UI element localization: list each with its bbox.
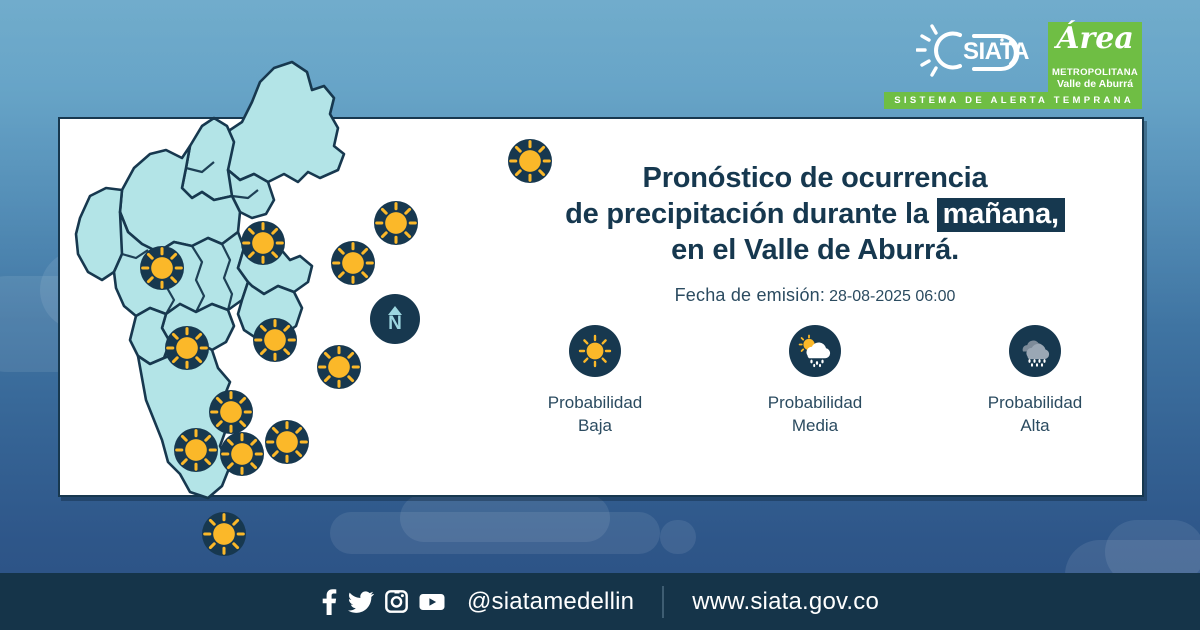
weather-marker-low[interactable] (220, 432, 264, 476)
sun-cloud-logo-icon: SIATA (916, 22, 1042, 84)
social-handle: @siatamedellin (467, 588, 634, 616)
logo-group: SIATA Área METROPOLITANA Valle de Aburrá (916, 22, 1142, 94)
forecast-text-panel: Pronóstico de ocurrencia de precipitació… (500, 160, 1130, 306)
weather-marker-low[interactable] (265, 420, 309, 464)
sun-cloud-rain-icon (796, 334, 834, 368)
siata-tagline: SISTEMA DE ALERTA TEMPRANA (884, 92, 1142, 109)
sun-icon (317, 345, 361, 389)
title-line-1: Pronóstico de ocurrencia (500, 160, 1130, 196)
weather-marker-low[interactable] (140, 246, 184, 290)
sun-icon (578, 334, 612, 368)
map-region (130, 308, 170, 364)
legend-label-line1: Probabilidad (548, 391, 643, 414)
title-line-2: de precipitación durante la mañana, (500, 196, 1130, 232)
footer-bar: @siatamedellin www.siata.gov.co (0, 573, 1200, 630)
sun-icon (253, 318, 297, 362)
legend-item-alta: Probabilidad Alta (940, 325, 1130, 437)
website-url: www.siata.gov.co (692, 588, 879, 616)
map-svg (62, 42, 422, 570)
page-title: Pronóstico de ocurrencia de precipitació… (500, 160, 1130, 268)
compass-north-icon: N (370, 294, 420, 344)
legend-label-baja: Probabilidad Baja (548, 391, 643, 437)
infographic-root: SIATA Área METROPOLITANA Valle de Aburrá… (0, 0, 1200, 630)
legend-icon-wrap (1009, 325, 1061, 377)
weather-marker-low[interactable] (174, 428, 218, 472)
footer-content: @siatamedellin www.siata.gov.co (321, 586, 879, 618)
legend-label-line2: Alta (988, 414, 1083, 437)
legend-item-media: Probabilidad Media (720, 325, 910, 437)
weather-marker-low[interactable] (241, 221, 285, 265)
social-links (321, 589, 445, 615)
sun-icon (331, 241, 375, 285)
area-script-text: Área (1048, 24, 1142, 54)
title-line-2-text: de precipitación durante la (565, 198, 929, 230)
sun-icon (374, 201, 418, 245)
compass-label: N (388, 316, 402, 332)
weather-marker-low[interactable] (253, 318, 297, 362)
twitter-icon (348, 591, 374, 613)
emission-value: 28-08-2025 06:00 (829, 288, 955, 305)
title-highlight: mañana, (937, 198, 1065, 232)
sun-icon (220, 432, 264, 476)
sun-icon (241, 221, 285, 265)
weather-marker-low[interactable] (331, 241, 375, 285)
legend-label-line1: Probabilidad (768, 391, 863, 414)
legend-item-baja: Probabilidad Baja (500, 325, 690, 437)
background-cloud-icon (400, 494, 610, 542)
facebook-icon (321, 589, 337, 615)
twitter-link[interactable] (348, 591, 374, 613)
instagram-icon (385, 590, 408, 613)
instagram-link[interactable] (385, 590, 408, 613)
weather-marker-low[interactable] (374, 201, 418, 245)
title-line-3: en el Valle de Aburrá. (500, 232, 1130, 268)
area-metropolitana-logo: Área METROPOLITANA Valle de Aburrá (1048, 22, 1142, 94)
siata-logo: SIATA (916, 22, 1042, 84)
sun-icon (174, 428, 218, 472)
legend-label-media: Probabilidad Media (768, 391, 863, 437)
rain-cloud-icon (1016, 334, 1054, 368)
legend-label-line2: Baja (548, 414, 643, 437)
legend-label-alta: Probabilidad Alta (988, 391, 1083, 437)
legend-icon-wrap (789, 325, 841, 377)
area-line2: Valle de Aburrá (1057, 78, 1133, 90)
youtube-link[interactable] (419, 592, 445, 612)
svg-text:SIATA: SIATA (963, 38, 1029, 65)
legend-icon-wrap (569, 325, 621, 377)
emission-date: Fecha de emisión:28-08-2025 06:00 (500, 285, 1130, 306)
weather-marker-low[interactable] (202, 512, 246, 556)
facebook-link[interactable] (321, 589, 337, 615)
youtube-icon (419, 592, 445, 612)
sun-icon (165, 326, 209, 370)
legend-label-line2: Media (768, 414, 863, 437)
area-line1: METROPOLITANA (1052, 67, 1138, 78)
weather-marker-low[interactable] (165, 326, 209, 370)
sun-icon (265, 420, 309, 464)
weather-marker-low[interactable] (317, 345, 361, 389)
footer-divider (662, 586, 664, 618)
valle-de-aburra-map: N (62, 42, 422, 570)
map-region (219, 62, 344, 182)
probability-legend: Probabilidad Baja (500, 325, 1130, 437)
sun-icon (202, 512, 246, 556)
sun-icon (140, 246, 184, 290)
emission-label: Fecha de emisión: (675, 285, 825, 305)
background-cloud-icon (660, 520, 696, 554)
legend-label-line1: Probabilidad (988, 391, 1083, 414)
